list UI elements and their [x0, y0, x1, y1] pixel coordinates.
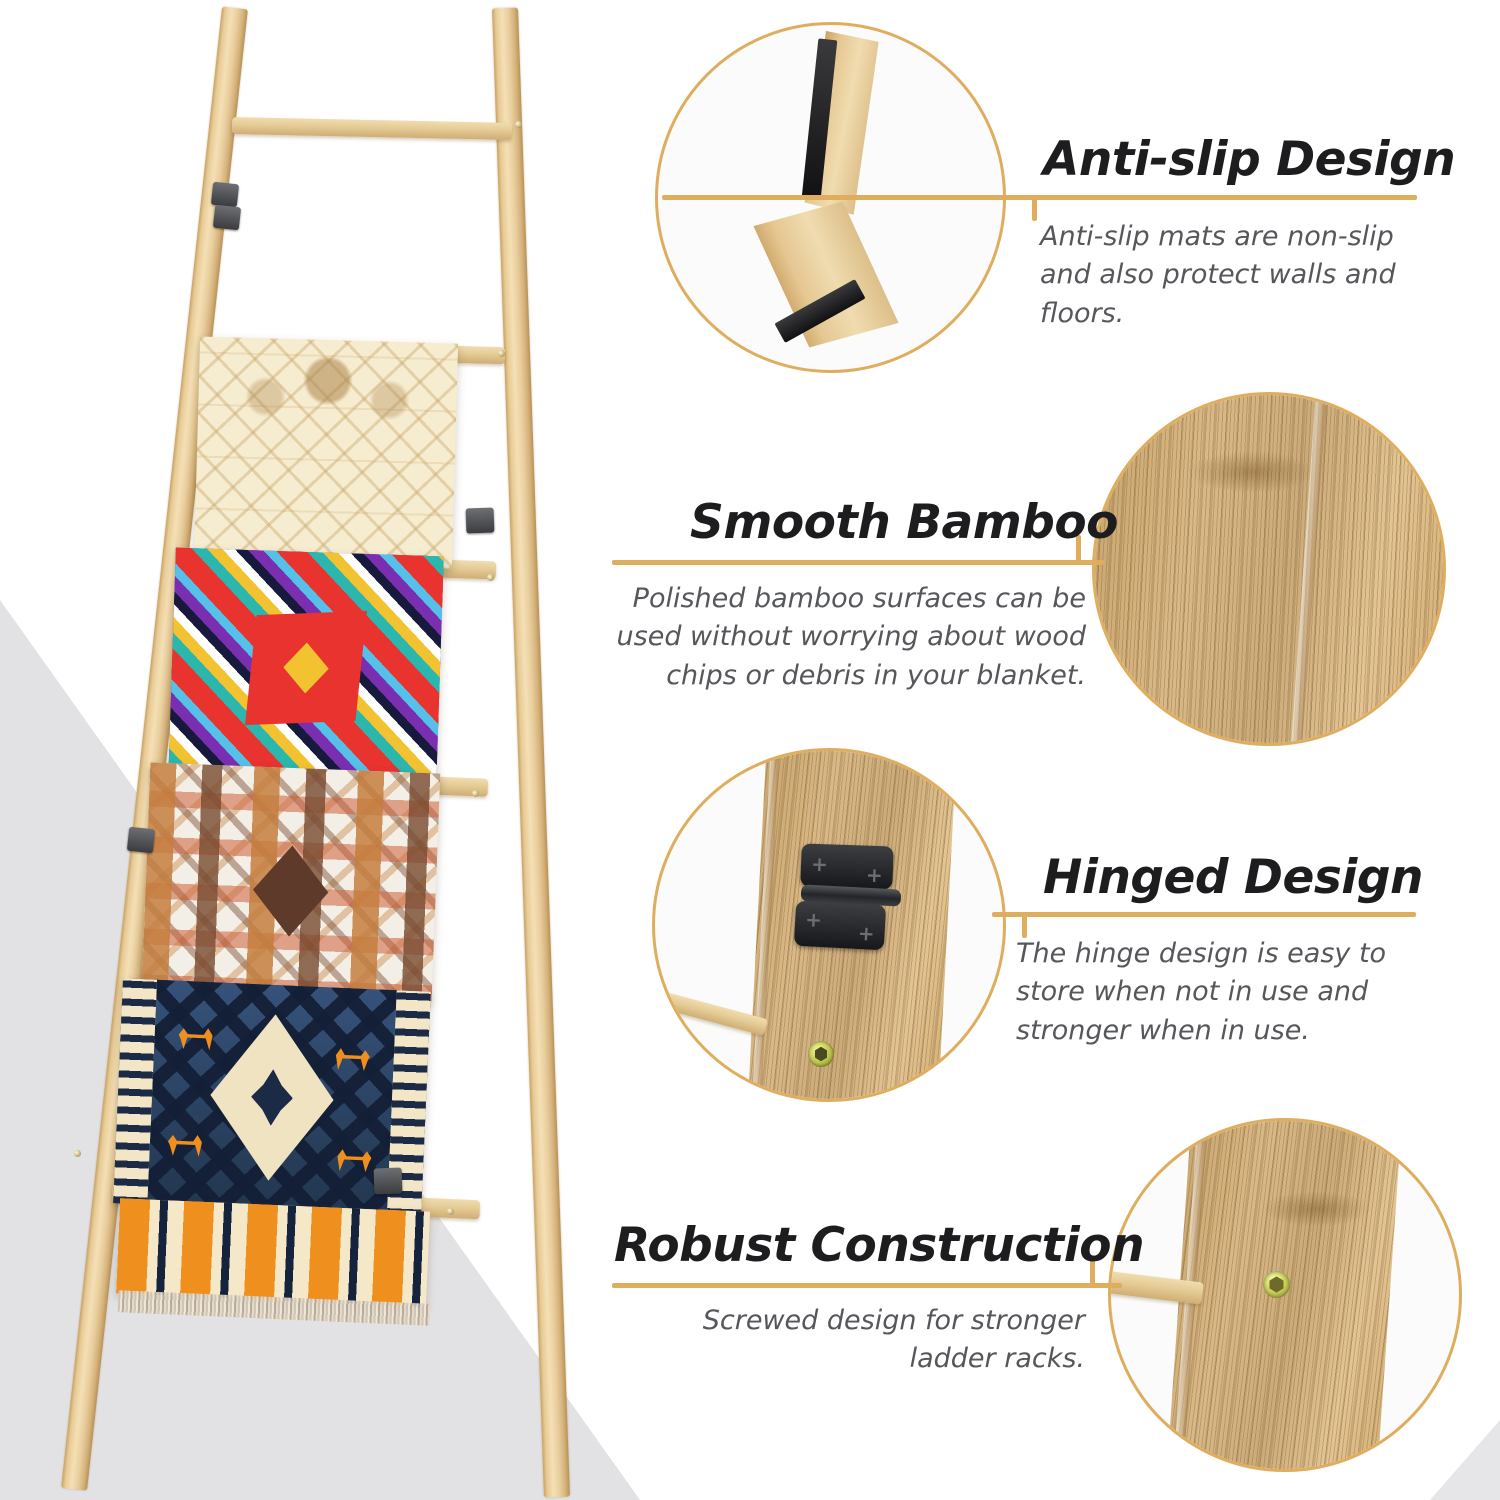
ladder-rung-1 — [232, 117, 512, 140]
connector-tick-anti-slip — [1032, 195, 1037, 221]
ladder-hinge-left-mid — [127, 827, 155, 854]
ladder-leg-lower-segment-icon — [745, 182, 908, 366]
hinge-plate-upper-icon: + + — [800, 843, 893, 889]
product-ladder — [0, 0, 620, 1500]
connector-line-anti-slip — [662, 195, 1417, 200]
callout-circle-smooth-bamboo — [1092, 392, 1446, 746]
feature-title-robust-construction: Robust Construction — [614, 1218, 1144, 1273]
callout-circle-hinged-design: + + + + — [652, 748, 1006, 1102]
ladder-screw-left-rail — [74, 1150, 81, 1157]
ladder-hinge-right-lower — [374, 1168, 403, 1195]
ladder-hinge-left-upper — [211, 182, 239, 208]
infographic-canvas: Anti-slip Design Anti-slip mats are non-… — [0, 0, 1500, 1500]
bamboo-node-mark — [1187, 451, 1317, 493]
ladder-screw-mid-right — [498, 350, 505, 357]
blanket-southwest-terracotta — [142, 763, 441, 1002]
blanket-damask-cream — [194, 336, 458, 568]
feature-title-anti-slip: Anti-slip Design — [1043, 132, 1455, 187]
connector-line-robust-construction — [612, 1283, 1122, 1288]
bamboo-post-node — [1261, 1191, 1371, 1227]
ladder-screw-lower-right — [487, 574, 494, 581]
blanket-kilim-blue-lower-band — [116, 1198, 430, 1306]
connector-line-smooth-bamboo — [612, 560, 1104, 565]
ladder-screw-top-right — [515, 121, 522, 128]
ladder-rail-right — [492, 8, 570, 1498]
ladder-screw-foot-right — [447, 1208, 454, 1215]
ladder-screw-bottom-right — [472, 790, 479, 797]
connector-line-hinged-design — [992, 912, 1416, 917]
callout-circle-robust-construction — [1108, 1118, 1462, 1472]
bamboo-grain-icon — [1095, 395, 1443, 743]
feature-body-anti-slip: Anti-slip mats are non-slip and also pro… — [1040, 218, 1420, 333]
feature-title-hinged-design: Hinged Design — [1043, 850, 1423, 905]
feature-body-robust-construction: Screwed design for stronger ladder racks… — [640, 1302, 1085, 1379]
hinge-plate-lower-icon: + + — [794, 901, 886, 951]
ladder-hinge-mid-right — [466, 508, 495, 534]
feature-title-smooth-bamboo: Smooth Bamboo — [690, 495, 1118, 550]
blanket-kilim-bright — [168, 548, 444, 789]
ladder-hinge-left-lower — [213, 205, 241, 231]
feature-body-smooth-bamboo: Polished bamboo surfaces can be used wit… — [606, 580, 1086, 695]
hinge-callout-rung — [652, 987, 768, 1036]
hinge-mount-screw-icon — [808, 1041, 834, 1067]
rung-fastening-screw-icon — [1263, 1271, 1290, 1298]
feature-body-hinged-design: The hinge design is easy to store when n… — [1016, 935, 1396, 1050]
